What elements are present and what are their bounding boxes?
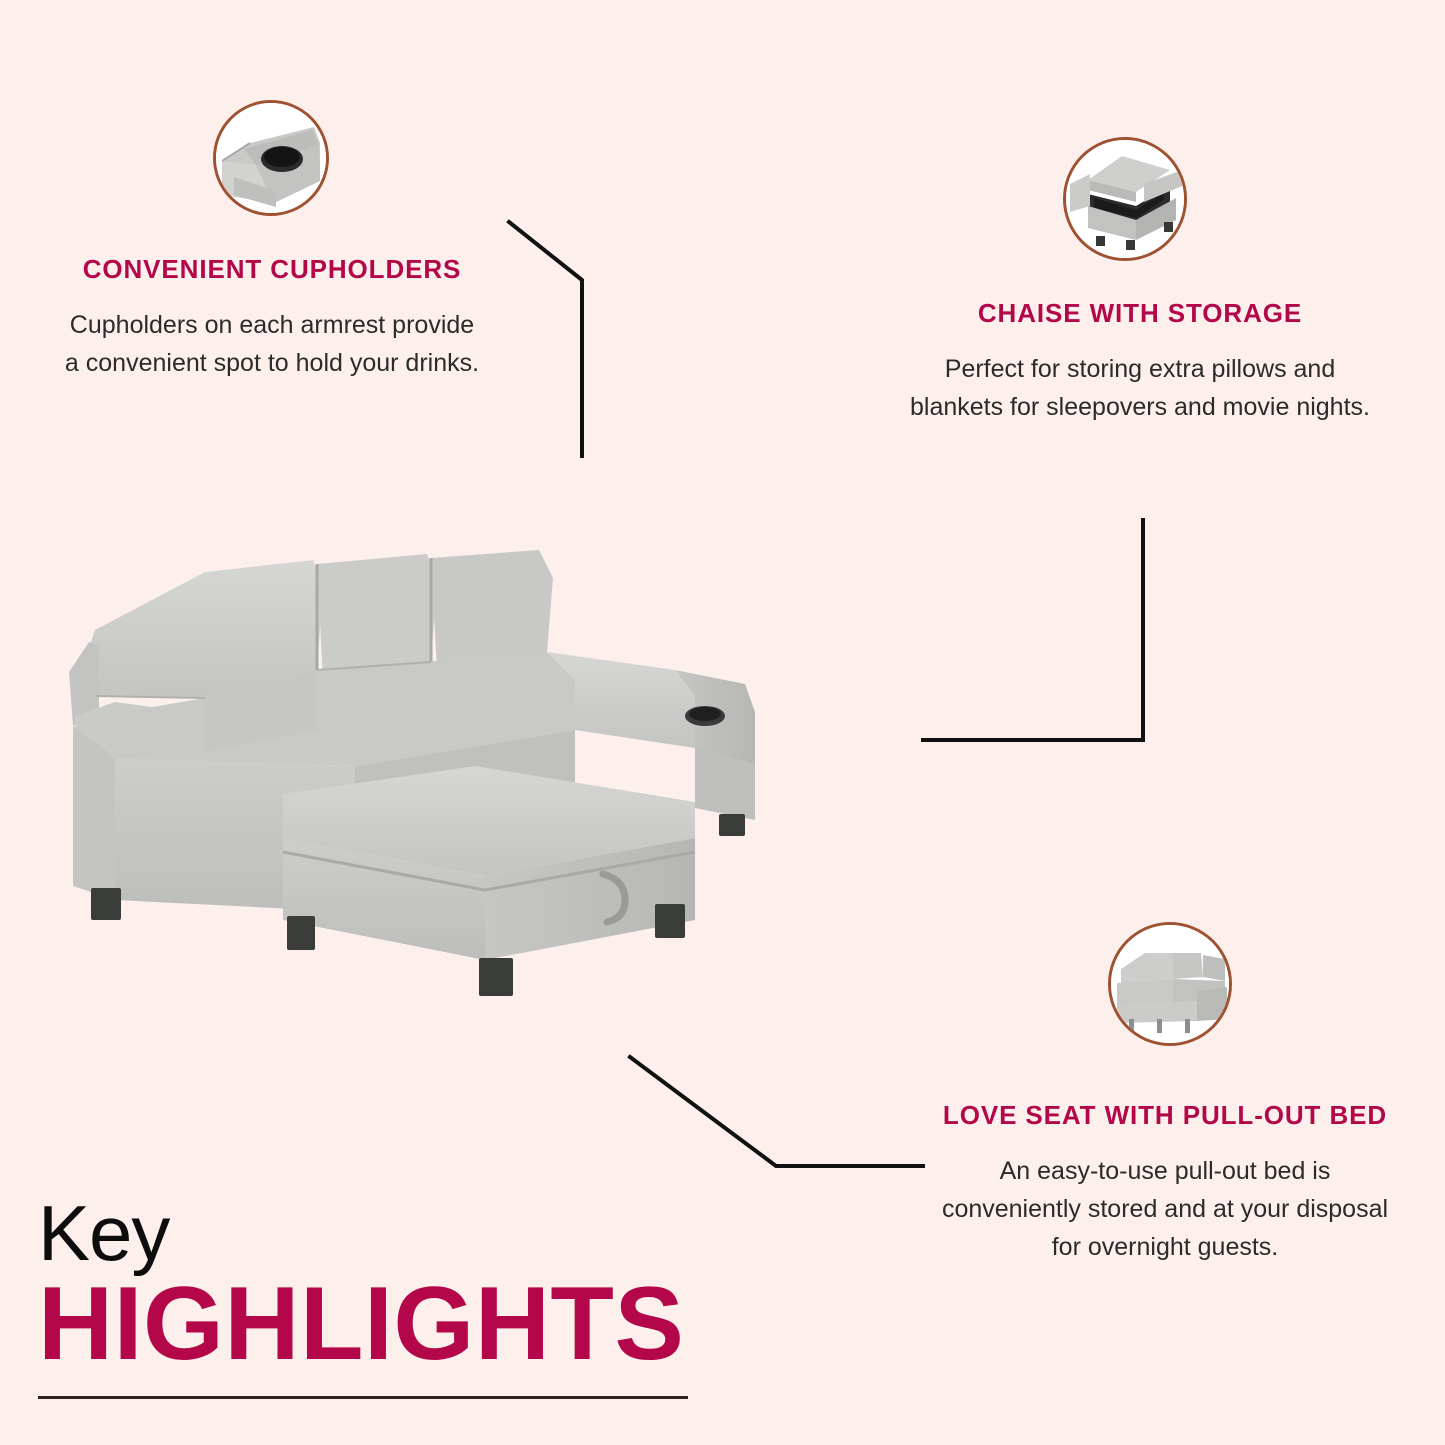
feature-title: CHAISE WITH STORAGE [905, 296, 1375, 330]
page-title: Key HIGHLIGHTS [38, 1198, 738, 1399]
pull-out-bed-thumbnail [1108, 922, 1232, 1046]
feature-title: LOVE SEAT WITH PULL-OUT BED [940, 1098, 1390, 1132]
gray-sectional-sofa-with-chaise [55, 520, 775, 1060]
connector-line-chaise-storage [923, 520, 1143, 740]
feature-title: CONVENIENT CUPHOLDERS [62, 252, 482, 286]
feature-body: An easy-to-use pull-out bed is convenien… [940, 1152, 1390, 1266]
feature-block-love-seat-pull-out-bed: LOVE SEAT WITH PULL-OUT BED An easy-to-u… [940, 1098, 1390, 1266]
feature-block-convenient-cupholders: CONVENIENT CUPHOLDERS Cupholders on each… [62, 252, 482, 382]
connector-line-cupholders [509, 222, 582, 456]
feature-block-chaise-with-storage: CHAISE WITH STORAGE Perfect for storing … [905, 296, 1375, 426]
feature-body: Perfect for storing extra pillows and bl… [905, 350, 1375, 426]
chaise-storage-open-thumbnail [1063, 137, 1187, 261]
infographic-canvas: CONVENIENT CUPHOLDERS Cupholders on each… [0, 0, 1445, 1445]
connector-line-pullout-bed [630, 1057, 923, 1166]
title-line-key: Key [38, 1198, 738, 1270]
feature-body: Cupholders on each armrest provide a con… [62, 306, 482, 382]
title-line-highlights: HIGHLIGHTS [38, 1274, 738, 1376]
cupholder-closeup-thumbnail [213, 100, 329, 216]
title-underline-rule [38, 1396, 688, 1399]
